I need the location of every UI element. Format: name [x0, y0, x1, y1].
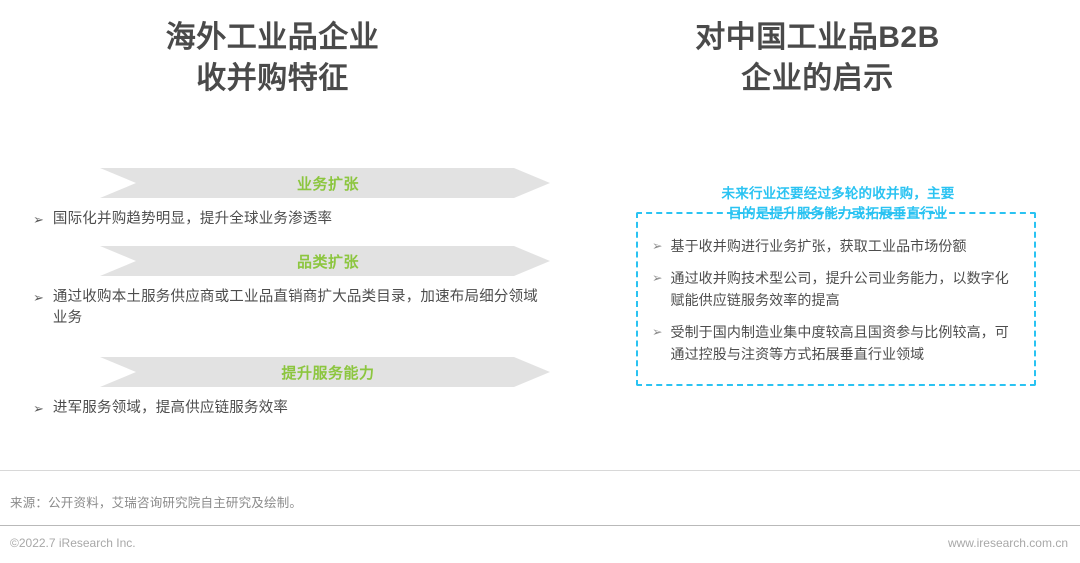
insight-bullet-text: 通过收并购技术型公司，提升公司业务能力，以数字化赋能供应链服务效率的提高 — [670, 267, 1022, 311]
website-url[interactable]: www.iresearch.com.cn — [948, 536, 1068, 550]
arrow-bullet-icon: ➢ — [33, 398, 44, 419]
band-label: 业务扩张 — [297, 173, 359, 194]
footer-divider-top — [0, 470, 1080, 471]
insight-bullet-item: ➢ 受制于国内制造业集中度较高且国资参与比例较高，可通过控股与注资等方式拓展垂直… — [646, 316, 1024, 370]
insight-heading-line-2: 目的是提升服务能力或拓展垂直行业 — [638, 204, 1038, 224]
arrow-bullet-icon: ➢ — [652, 321, 662, 343]
footer-divider-bottom — [0, 525, 1080, 526]
section-category-expansion: 品类扩张 ➢ 通过收购本土服务供应商或工业品直销商扩大品类目录，加速布局细分领域… — [0, 246, 600, 335]
band-arrow-business-expansion: 业务扩张 — [100, 168, 550, 198]
band-label: 品类扩张 — [297, 251, 359, 272]
bullet-text: 进军服务领域，提高供应链服务效率 — [53, 398, 288, 419]
right-title-block: 对中国工业品B2B 企业的启示 — [535, 18, 1080, 100]
left-title-line-1: 海外工业品企业 — [10, 18, 535, 59]
arrow-bullet-icon: ➢ — [33, 209, 44, 230]
insight-bullet-text: 受制于国内制造业集中度较高且国资参与比例较高，可通过控股与注资等方式拓展垂直行业… — [670, 321, 1022, 365]
section-service-capability: 提升服务能力 ➢ 进军服务领域，提高供应链服务效率 — [0, 357, 600, 425]
insight-bullet-text: 基于收并购进行业务扩张，获取工业品市场份额 — [670, 235, 966, 257]
arrow-bullet-icon: ➢ — [33, 287, 44, 308]
bullet-item: ➢ 通过收购本土服务供应商或工业品直销商扩大品类目录，加速布局细分领域业务 — [0, 276, 600, 335]
band-arrow-service-capability: 提升服务能力 — [100, 357, 550, 387]
insight-heading-line-1: 未来行业还要经过多轮的收并购，主要 — [716, 184, 961, 204]
insight-callout-box: 未来行业还要经过多轮的收并购，主要 目的是提升服务能力或拓展垂直行业 ➢ 基于收… — [636, 212, 1036, 386]
copyright-text: ©2022.7 iResearch Inc. — [10, 536, 136, 550]
arrow-bullet-icon: ➢ — [652, 235, 662, 257]
insight-heading: 未来行业还要经过多轮的收并购，主要 目的是提升服务能力或拓展垂直行业 — [638, 184, 1038, 225]
section-business-expansion: 业务扩张 ➢ 国际化并购趋势明显，提升全球业务渗透率 — [0, 168, 600, 236]
insight-bullet-item: ➢ 基于收并购进行业务扩张，获取工业品市场份额 — [646, 230, 1024, 262]
spacer — [0, 236, 600, 246]
bullet-text: 国际化并购趋势明显，提升全球业务渗透率 — [53, 209, 332, 230]
bullet-item: ➢ 进军服务领域，提高供应链服务效率 — [0, 387, 600, 425]
left-title-line-2: 收并购特征 — [10, 59, 535, 100]
source-note: 来源：公开资料，艾瑞咨询研究院自主研究及绘制。 — [10, 492, 302, 511]
arrow-bullet-icon: ➢ — [652, 267, 662, 289]
right-title-line-1: 对中国工业品B2B — [555, 18, 1080, 59]
left-content-pane: 业务扩张 ➢ 国际化并购趋势明显，提升全球业务渗透率 品类扩张 ➢ 通过收购本土… — [0, 168, 600, 425]
spacer — [0, 335, 600, 357]
right-content-pane: 未来行业还要经过多轮的收并购，主要 目的是提升服务能力或拓展垂直行业 ➢ 基于收… — [636, 190, 1036, 386]
bullet-text: 通过收购本土服务供应商或工业品直销商扩大品类目录，加速布局细分领域业务 — [53, 287, 540, 329]
band-label: 提升服务能力 — [281, 362, 374, 383]
slide-titles: 海外工业品企业 收并购特征 对中国工业品B2B 企业的启示 — [0, 0, 1080, 100]
bullet-item: ➢ 国际化并购趋势明显，提升全球业务渗透率 — [0, 198, 600, 236]
right-title-line-2: 企业的启示 — [555, 59, 1080, 100]
band-arrow-category-expansion: 品类扩张 — [100, 246, 550, 276]
left-title-block: 海外工业品企业 收并购特征 — [0, 18, 535, 100]
insight-bullet-item: ➢ 通过收并购技术型公司，提升公司业务能力，以数字化赋能供应链服务效率的提高 — [646, 262, 1024, 316]
